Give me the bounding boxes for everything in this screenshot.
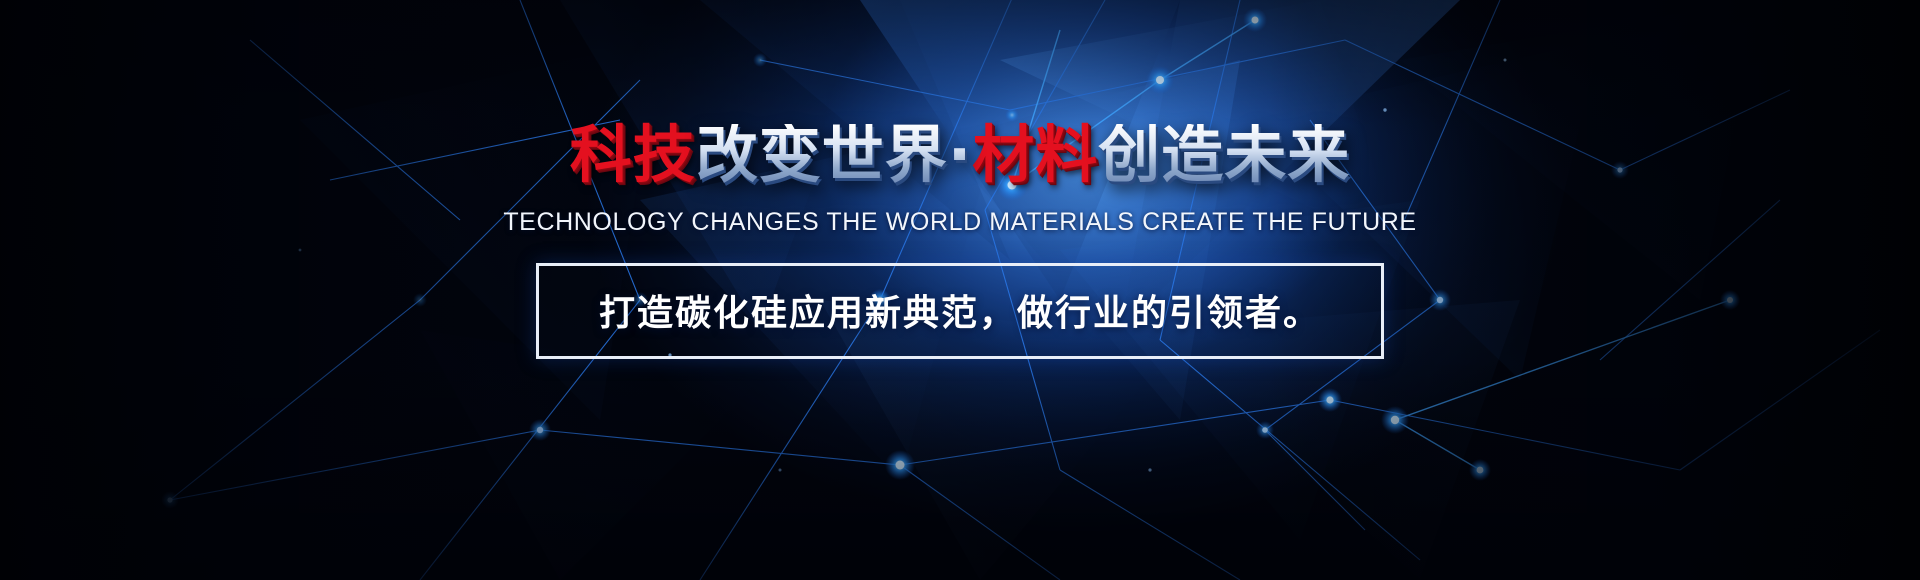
headline-segment-3: 材料	[972, 124, 1098, 186]
tagline-text: 打造碳化硅应用新典范，做行业的引领者。	[599, 284, 1321, 336]
headline-segment-4: 创造未来	[1098, 124, 1350, 186]
hero-banner: 科技 改变世界· 材料 创造未来 TECHNOLOGY CHANGES THE …	[0, 0, 1920, 580]
banner-content: 科技 改变世界· 材料 创造未来 TECHNOLOGY CHANGES THE …	[0, 0, 1920, 580]
headline-segment-2: 改变世界·	[696, 124, 973, 186]
headline-segment-1: 科技	[570, 124, 696, 186]
tagline-box: 打造碳化硅应用新典范，做行业的引领者。	[536, 263, 1384, 359]
subtitle-english: TECHNOLOGY CHANGES THE WORLD MATERIALS C…	[503, 208, 1416, 237]
headline: 科技 改变世界· 材料 创造未来	[570, 124, 1351, 186]
